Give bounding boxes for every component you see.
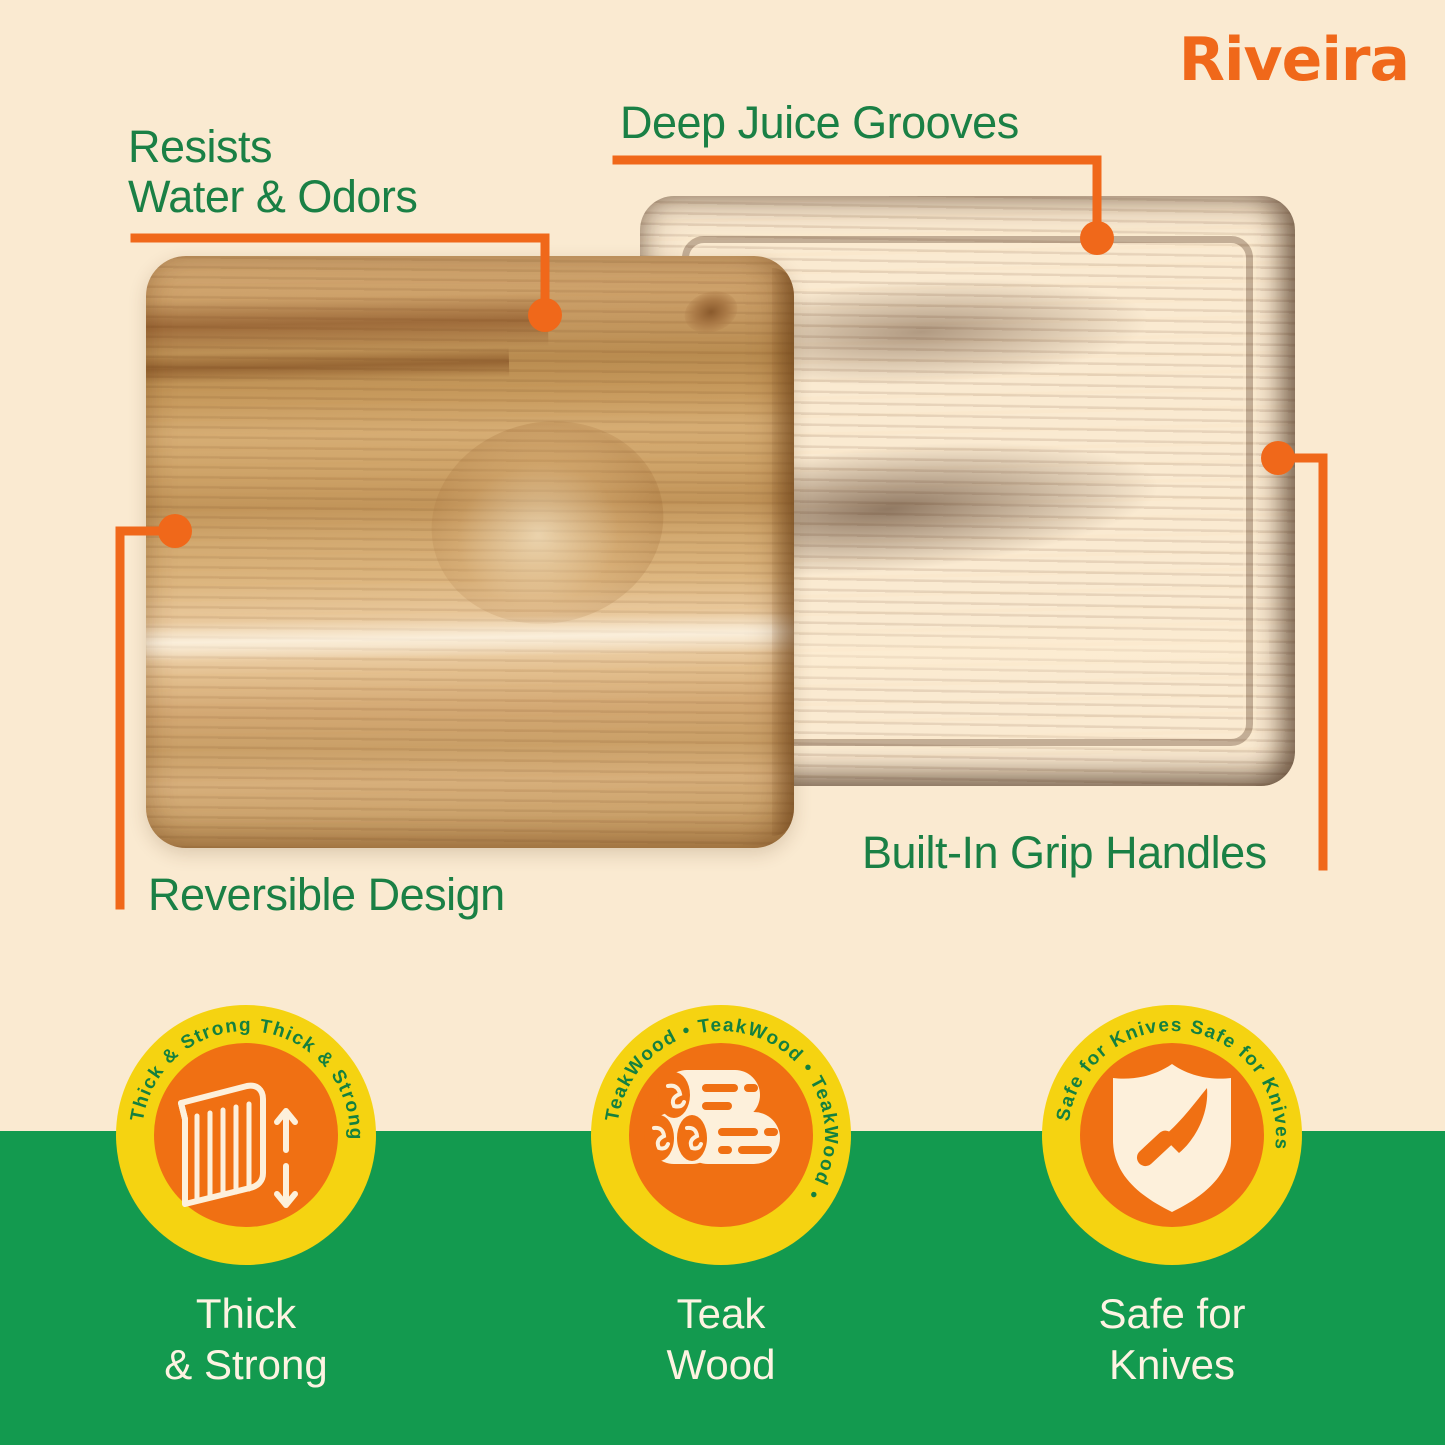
callout-label-resists-water-odors: Resists Water & Odors [128, 122, 417, 223]
infographic-canvas: Riveira Resists Water & Odors [0, 0, 1445, 1445]
badge-teak-wood: TeakWood • TeakWood • TeakWood • [586, 1000, 856, 1270]
board-edge-shading [146, 256, 794, 848]
badge-caption-teak-wood: Teak Wood [541, 1288, 901, 1390]
badge-safe-for-knives: Safe for Knives Safe for Knives [1037, 1000, 1307, 1270]
callout-label-built-in-grip-handles: Built-In Grip Handles [862, 828, 1267, 878]
callout-label-reversible-design: Reversible Design [148, 870, 505, 920]
callout-label-deep-juice-grooves: Deep Juice Grooves [620, 98, 1019, 148]
badge-thick-and-strong: Thick & Strong Thick & Strong [111, 1000, 381, 1270]
badge-caption-thick-and-strong: Thick & Strong [66, 1288, 426, 1390]
badge-caption-safe-for-knives: Safe for Knives [992, 1288, 1352, 1390]
brand-logo: Riveira [1179, 30, 1409, 90]
front-cutting-board-flat-side [146, 256, 794, 848]
